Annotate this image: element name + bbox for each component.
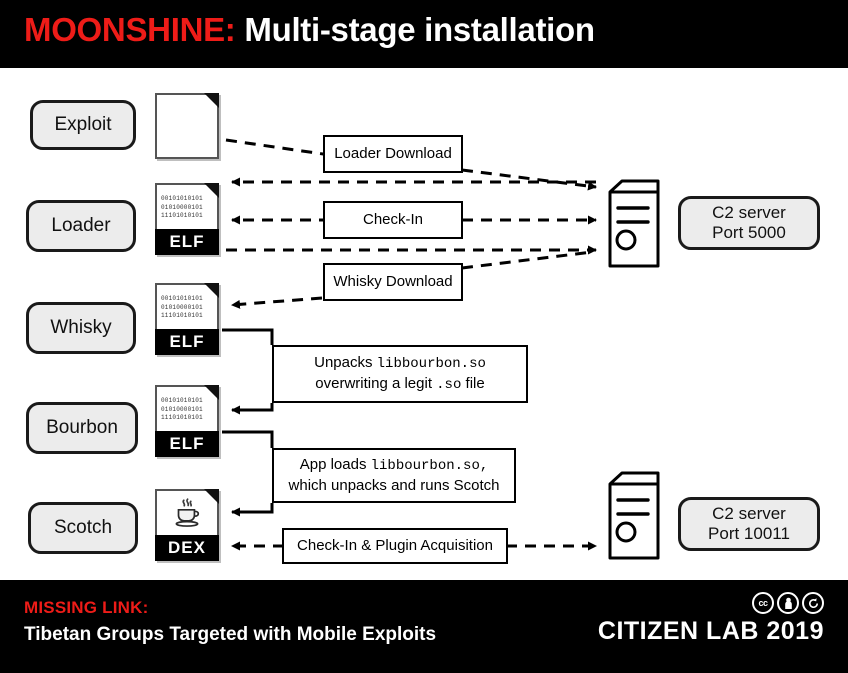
flow-label-text: Check-In & Plugin Acquisition [297, 536, 493, 556]
flow-text-prefix: Unpacks [314, 354, 377, 371]
stage-pill-bourbon[interactable]: Bourbon [26, 402, 138, 454]
flow-text-prefix: App loads [300, 456, 371, 473]
stage-pill-loader[interactable]: Loader [26, 200, 136, 252]
flow-label-checkin-plugin-acquisition[interactable]: Check-In & Plugin Acquisition [282, 528, 508, 564]
cc-by-person-icon [777, 592, 799, 614]
diagram-canvas: MOONSHINE: Multi-stage installation [0, 0, 848, 673]
flow-text-line2-suffix: file [461, 375, 484, 392]
file-type-tag: DEX [155, 535, 219, 561]
binary-text: 00101010101 01010000101 11101010101 [161, 195, 215, 221]
creative-commons-badges: cc [752, 592, 824, 614]
stage-pill-scotch[interactable]: Scotch [28, 502, 138, 554]
server-label-2[interactable]: C2 server Port 10011 [678, 497, 820, 551]
flow-label-text: Unpacks libbourbon.so overwriting a legi… [314, 353, 486, 395]
file-type-tag: ELF [155, 329, 219, 355]
server-name: C2 server [712, 504, 786, 524]
flow-label-text: Check-In [363, 210, 423, 230]
binary-row: 11101010101 [161, 212, 215, 221]
server-port: Port 10011 [708, 524, 790, 544]
flow-label-whisky-download[interactable]: Whisky Download [323, 263, 463, 301]
dex-file-icon-scotch: DEX [155, 489, 219, 561]
binary-text: 00101010101 01010000101 11101010101 [161, 397, 215, 423]
binary-row: 01010000101 [161, 406, 215, 415]
flow-code-libbourbon: libbourbon.so [377, 356, 486, 372]
flow-text-line2: which unpacks and runs Scotch [289, 477, 500, 494]
stage-label: Loader [51, 215, 110, 237]
stage-label: Whisky [50, 317, 111, 339]
binary-row: 11101010101 [161, 312, 215, 321]
java-coffee-icon [155, 493, 219, 533]
flow-text-line2-prefix: overwriting a legit [315, 375, 436, 392]
elf-file-icon-loader: 00101010101 01010000101 11101010101 ELF [155, 183, 219, 255]
binary-row: 00101010101 [161, 195, 215, 204]
stage-label: Bourbon [46, 417, 118, 439]
flow-label-unpacks-libbourbon[interactable]: Unpacks libbourbon.so overwriting a legi… [272, 345, 528, 403]
flow-code-so: .so [436, 377, 461, 393]
server-tower-icon-1 [598, 178, 666, 277]
cc-sa-share-alike-icon [802, 592, 824, 614]
stage-label: Scotch [54, 517, 112, 539]
flow-label-app-loads-libbourbon[interactable]: App loads libbourbon.so, which unpacks a… [272, 448, 516, 503]
file-fold-corner [204, 93, 219, 108]
blank-file-icon [155, 93, 219, 159]
binary-row: 01010000101 [161, 204, 215, 213]
cc-icon: cc [752, 592, 774, 614]
file-type-tag: ELF [155, 431, 219, 457]
server-port: Port 5000 [712, 223, 786, 243]
elf-file-icon-bourbon: 00101010101 01010000101 11101010101 ELF [155, 385, 219, 457]
stage-pill-whisky[interactable]: Whisky [26, 302, 136, 354]
stage-pill-exploit[interactable]: Exploit [30, 100, 136, 150]
flow-label-text: Loader Download [334, 144, 452, 164]
server-name: C2 server [712, 203, 786, 223]
flow-label-check-in[interactable]: Check-In [323, 201, 463, 239]
binary-text: 00101010101 01010000101 11101010101 [161, 295, 215, 321]
footer-kicker: MISSING LINK: [24, 598, 148, 618]
footer-subtitle: Tibetan Groups Targeted with Mobile Expl… [24, 624, 436, 646]
elf-file-icon-whisky: 00101010101 01010000101 11101010101 ELF [155, 283, 219, 355]
flow-code-libbourbon: libbourbon.so, [371, 458, 489, 474]
binary-row: 00101010101 [161, 397, 215, 406]
flow-label-loader-download[interactable]: Loader Download [323, 135, 463, 173]
flow-label-text: Whisky Download [333, 272, 452, 292]
binary-row: 11101010101 [161, 414, 215, 423]
binary-row: 00101010101 [161, 295, 215, 304]
file-type-tag: ELF [155, 229, 219, 255]
footer-brand: CITIZEN LAB 2019 [598, 617, 824, 646]
stage-label: Exploit [54, 114, 111, 136]
server-tower-icon-2 [598, 470, 666, 569]
binary-row: 01010000101 [161, 304, 215, 313]
flow-label-text: App loads libbourbon.so, which unpacks a… [289, 455, 500, 496]
server-label-1[interactable]: C2 server Port 5000 [678, 196, 820, 250]
